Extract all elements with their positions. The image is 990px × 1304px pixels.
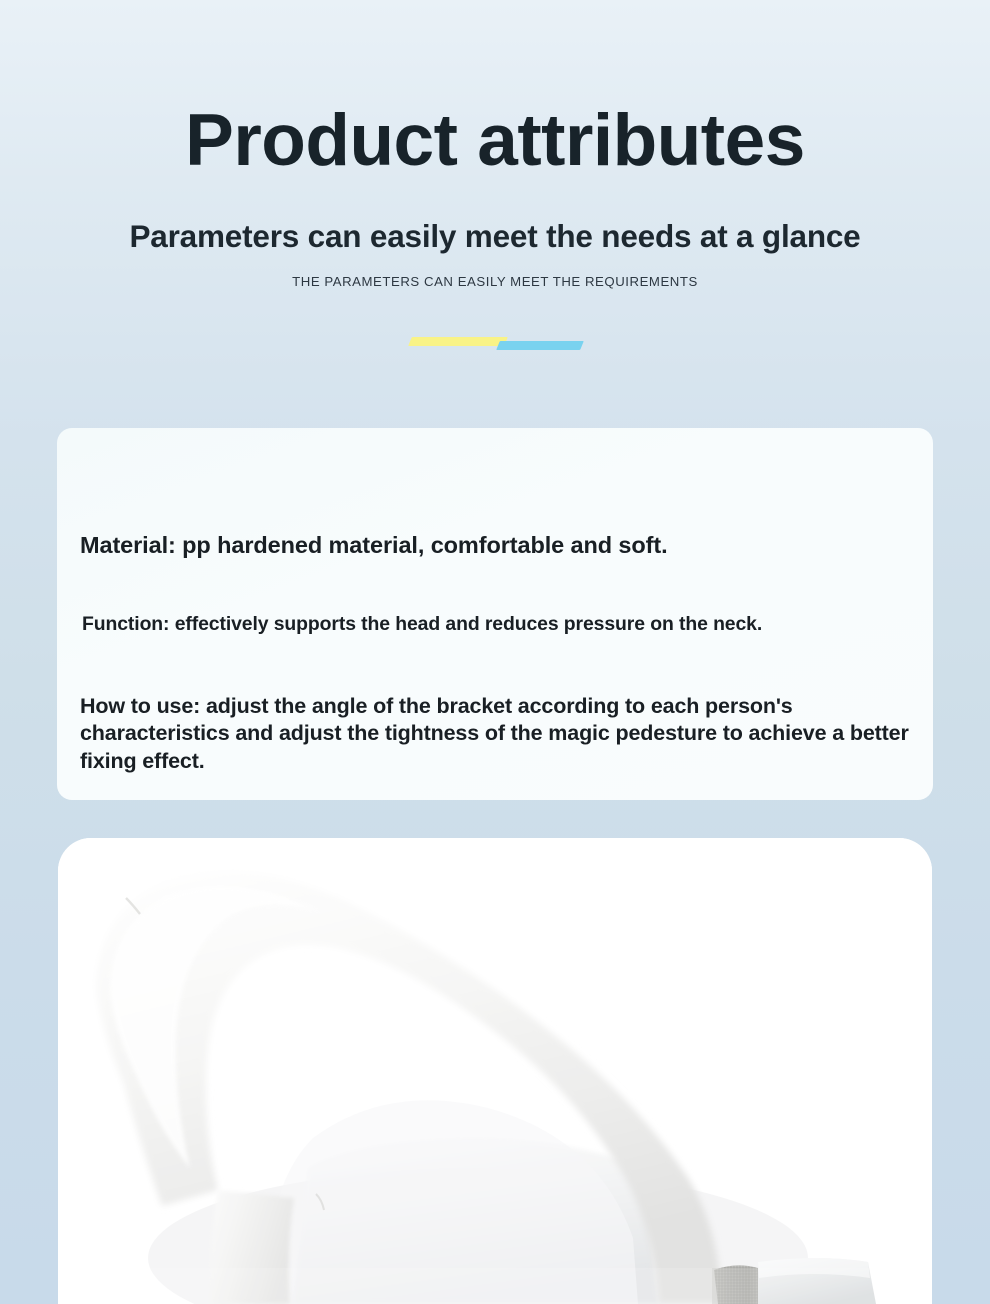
page-title: Product attributes: [0, 0, 990, 177]
spec-material-line: Material: pp hardened material, comforta…: [80, 532, 668, 559]
divider-segment-yellow: [408, 337, 508, 346]
product-photo-card: [58, 838, 932, 1304]
specifications-card: Material: pp hardened material, comforta…: [57, 428, 933, 800]
page-subtitle: Parameters can easily meet the needs at …: [0, 177, 990, 253]
spec-how-to-use-line: How to use: adjust the angle of the brac…: [80, 693, 910, 776]
section-divider: [0, 335, 990, 353]
product-attributes-page: Product attributes Parameters can easily…: [0, 0, 990, 1304]
spec-function-line: Function: effectively supports the head …: [82, 613, 762, 636]
page-kicker-caption: THE PARAMETERS CAN EASILY MEET THE REQUI…: [0, 253, 990, 288]
product-photo-neck-bracket: [58, 838, 932, 1304]
page-header: Product attributes Parameters can easily…: [0, 0, 990, 288]
divider-segment-blue: [496, 341, 584, 350]
